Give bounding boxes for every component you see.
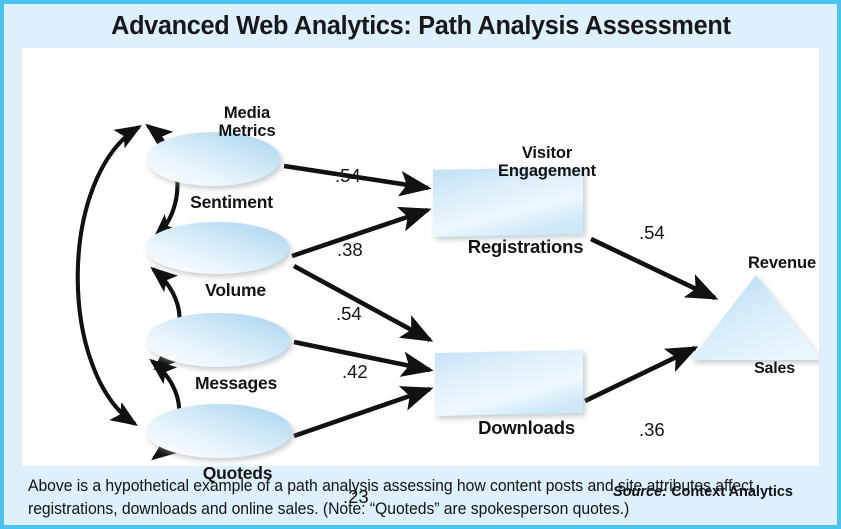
diagram-panel: Media Metrics Visitor Engagement Revenue… — [22, 48, 819, 466]
group-heading-media-line2: Metrics — [182, 122, 312, 140]
page-title: Advanced Web Analytics: Path Analysis As… — [111, 12, 730, 41]
path-coefficient-volume-downloads: .54 — [336, 303, 362, 325]
path-diagram-svg — [22, 48, 819, 466]
group-heading-media-line1: Media — [182, 104, 312, 122]
node-shape-messages[interactable] — [146, 313, 290, 367]
path-arrow-registrations-sales — [591, 239, 715, 298]
path-coefficient-volume-registrations: .38 — [337, 239, 363, 261]
group-heading-revenue: Revenue — [712, 254, 841, 272]
node-shape-volume[interactable] — [145, 222, 289, 274]
group-heading-media-metrics: Media Metrics — [182, 104, 312, 141]
path-arrow-quoteds-downloads — [294, 389, 430, 436]
figure-container: Advanced Web Analytics: Path Analysis As… — [0, 0, 841, 529]
path-arrow-downloads-sales — [585, 348, 695, 401]
node-shape-sales[interactable] — [690, 275, 819, 360]
correlation-arc-sentiment-quoteds — [78, 127, 139, 424]
node-shape-quoteds[interactable] — [146, 404, 292, 458]
figure-caption: Above is a hypothetical example of a pat… — [28, 475, 782, 522]
group-heading-visitor-line2: Engagement — [462, 162, 632, 180]
path-coefficient-sentiment-registrations: .54 — [335, 165, 361, 187]
group-heading-visitor-line1: Visitor — [462, 144, 632, 162]
path-arrow-volume-downloads — [294, 266, 430, 340]
path-coefficient-downloads-sales: .36 — [639, 419, 665, 441]
group-heading-visitor-engagement: Visitor Engagement — [462, 144, 632, 181]
path-coefficient-registrations-sales: .54 — [639, 222, 665, 244]
title-bar: Advanced Web Analytics: Path Analysis As… — [4, 4, 837, 48]
path-coefficient-messages-downloads: .42 — [342, 361, 368, 383]
node-shape-downloads[interactable] — [435, 350, 583, 416]
